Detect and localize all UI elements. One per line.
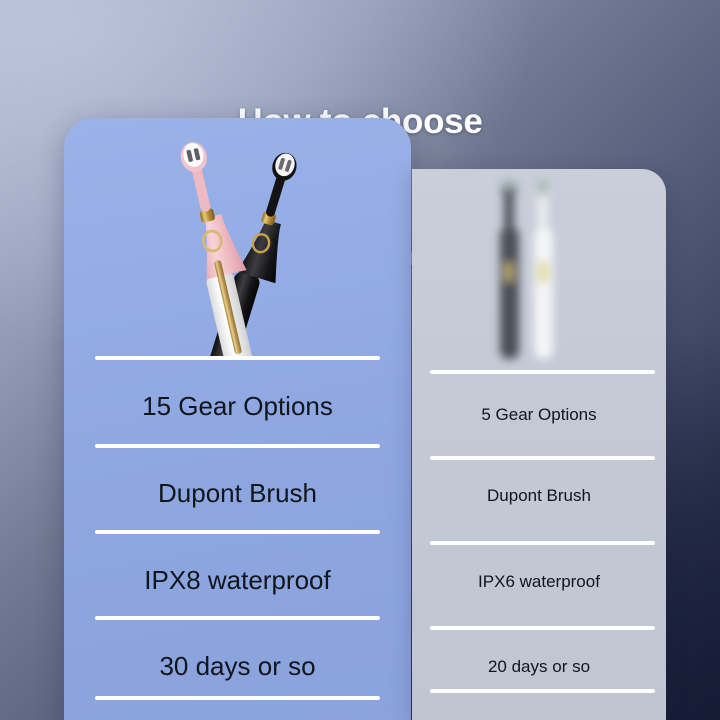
row-divider bbox=[430, 370, 655, 374]
feature-battery-life: 20 days or so bbox=[412, 657, 666, 677]
row-divider bbox=[95, 356, 380, 360]
row-divider bbox=[430, 456, 655, 460]
standard-toothbrush-card[interactable]: 5 Gear Options Dupont Brush IPX6 waterpr… bbox=[412, 169, 666, 720]
feature-battery-life: 30 days or so bbox=[64, 651, 411, 682]
row-divider bbox=[95, 530, 380, 534]
feature-brush-type: Dupont Brush bbox=[412, 486, 666, 506]
row-divider bbox=[430, 541, 655, 545]
row-divider bbox=[430, 689, 655, 693]
feature-waterproof: IPX6 waterproof bbox=[412, 572, 666, 592]
premium-toothbrush-card[interactable]: 15 Gear Options Dupont Brush IPX8 waterp… bbox=[64, 118, 411, 720]
row-divider bbox=[95, 696, 380, 700]
feature-waterproof: IPX8 waterproof bbox=[64, 565, 411, 596]
row-divider bbox=[95, 616, 380, 620]
feature-gear-options: 15 Gear Options bbox=[64, 391, 411, 422]
blurred-electric-toothbrushes-icon bbox=[412, 169, 666, 369]
poster-canvas: How to choose the right toothbrush ? bbox=[0, 0, 720, 720]
row-divider bbox=[430, 626, 655, 630]
row-divider bbox=[95, 444, 380, 448]
feature-brush-type: Dupont Brush bbox=[64, 478, 411, 509]
feature-gear-options: 5 Gear Options bbox=[412, 405, 666, 425]
crossed-electric-toothbrushes-icon bbox=[64, 118, 411, 358]
